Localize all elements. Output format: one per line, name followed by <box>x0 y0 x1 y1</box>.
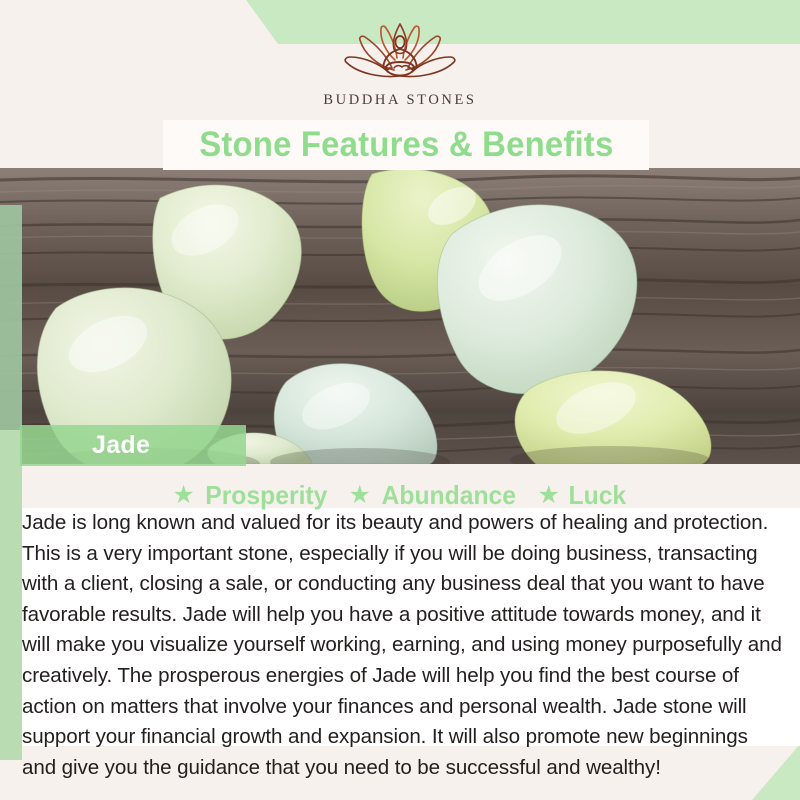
benefits-row: ★ Prosperity ★ Abundance ★ Luck <box>0 478 800 512</box>
star-icon: ★ <box>172 483 194 508</box>
description-paragraph: Jade is long known and valued for its be… <box>22 508 784 783</box>
title-band: Stone Features & Benefits <box>163 120 649 170</box>
benefit-label: Prosperity <box>205 480 327 511</box>
page-title: Stone Features & Benefits <box>199 125 613 165</box>
brand-name: BUDDHA STONES <box>323 92 476 109</box>
lotus-meditation-icon <box>326 18 474 88</box>
benefit-item: ★ Prosperity <box>172 480 330 511</box>
star-icon: ★ <box>348 483 370 508</box>
benefit-label: Abundance <box>381 480 515 511</box>
stone-name-label: Jade <box>92 431 150 460</box>
benefit-item: ★ Luck <box>537 480 627 511</box>
brand-header: BUDDHA STONES <box>0 0 800 120</box>
star-icon: ★ <box>537 483 559 508</box>
benefit-item: ★ Abundance <box>348 480 519 511</box>
infographic-card: BUDDHA STONES Stone Features & Benefits <box>0 0 800 800</box>
description-block: Jade is long known and valued for its be… <box>22 508 784 783</box>
stone-name-band: Jade <box>20 425 246 466</box>
benefit-label: Luck <box>568 480 626 511</box>
jade-stones-photo <box>0 168 800 464</box>
